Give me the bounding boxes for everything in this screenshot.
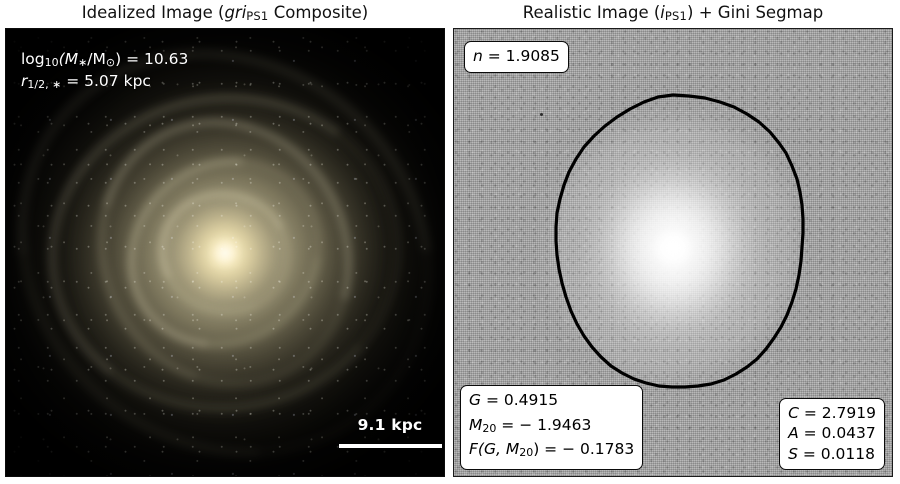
half-radius-value: 5.07 — [84, 72, 119, 90]
gini-value-2: − 0.1783 — [562, 440, 634, 458]
left-panel-title: Idealized Image (griPS1 Composite) — [5, 2, 445, 24]
gini-value-1: − 1.9463 — [519, 416, 591, 434]
gini-symbol-1: M — [469, 416, 482, 434]
left-title-italic: gri — [224, 3, 246, 22]
gini-line-1: M20 = − 1.9463 — [469, 415, 634, 440]
gini-equals-2: ) = — [533, 440, 562, 458]
right-panel-title: Realistic Image (iPS1) + Gini Segmap — [453, 2, 893, 24]
sersic-value: 1.9085 — [506, 47, 560, 65]
gini-symbol-2: F(G, M — [469, 440, 519, 458]
figure-root: Idealized Image (griPS1 Composite) Reali… — [0, 0, 900, 484]
stellar-mass-slash: /M — [87, 50, 106, 68]
stellar-mass-star: ∗ — [78, 56, 87, 69]
cas-statistics-box: C = 2.7919 A = 0.0437 S = 0.0118 — [779, 398, 885, 471]
stellar-mass-label: log10(M∗/M⊙) = 10.63 — [21, 49, 188, 73]
gini-symbol-0: G — [469, 391, 481, 409]
realistic-image-panel: n = 1.9085 G = 0.4915 M20 = − 1.9463 F(G… — [453, 28, 893, 477]
scale-bar-label: 9.1 kpc — [334, 415, 445, 435]
stellar-mass-sun: ⊙ — [106, 56, 115, 69]
stellar-mass-open: (M — [59, 50, 78, 68]
cas-value-1: 0.0437 — [822, 424, 876, 442]
cas-symbol-0: C — [788, 404, 799, 422]
half-radius-unit: kpc — [124, 72, 151, 90]
gini-line-0: G = 0.4915 — [469, 390, 634, 415]
stellar-mass-value: 10.63 — [144, 50, 188, 68]
right-title-subscript: PS1 — [665, 9, 687, 23]
gini-sub-1: 20 — [482, 422, 496, 435]
cas-value-2: 0.0118 — [821, 445, 875, 463]
stellar-mass-log: log — [21, 50, 45, 68]
gini-value-0: 0.4915 — [504, 391, 558, 409]
gini-line-2: F(G, M20) = − 0.1783 — [469, 439, 634, 464]
vignette-overlay — [6, 29, 444, 476]
stellar-mass-log-base: 10 — [45, 56, 59, 69]
gini-m20-box: G = 0.4915 M20 = − 1.9463 F(G, M20) = − … — [460, 385, 643, 470]
stellar-mass-equals: ) = — [115, 50, 144, 68]
cas-line-1: A = 0.0437 — [788, 423, 876, 444]
cas-symbol-1: A — [788, 424, 799, 442]
idealized-galaxy-image — [6, 29, 444, 476]
scale-bar: 9.1 kpc — [334, 415, 445, 448]
left-title-post: Composite) — [268, 3, 368, 22]
half-mass-radius-label: r1/2, ∗ = 5.07 kpc — [21, 71, 151, 95]
gini-equals-1: = — [496, 416, 519, 434]
right-title-post: ) + Gini Segmap — [687, 3, 823, 22]
sersic-equals: = — [483, 47, 506, 65]
cas-equals-1: = — [799, 424, 822, 442]
scale-bar-line — [339, 444, 442, 448]
cas-equals-2: = — [798, 445, 821, 463]
idealized-image-panel: log10(M∗/M⊙) = 10.63 r1/2, ∗ = 5.07 kpc … — [5, 28, 445, 477]
half-radius-equals: = — [61, 72, 84, 90]
left-title-subscript: PS1 — [246, 9, 268, 23]
right-title-pre: Realistic Image ( — [523, 3, 660, 22]
cas-symbol-2: S — [788, 445, 798, 463]
sersic-index-box: n = 1.9085 — [464, 41, 569, 73]
cas-equals-0: = — [799, 404, 822, 422]
gini-equals-0: = — [481, 391, 504, 409]
cas-line-2: S = 0.0118 — [788, 444, 876, 465]
sersic-symbol: n — [473, 47, 483, 65]
half-radius-subscript: 1/2, ∗ — [27, 78, 61, 91]
left-title-pre: Idealized Image ( — [82, 3, 225, 22]
cas-line-0: C = 2.7919 — [788, 403, 876, 424]
gini-sub-2: 20 — [519, 447, 533, 460]
cas-value-0: 2.7919 — [822, 404, 876, 422]
